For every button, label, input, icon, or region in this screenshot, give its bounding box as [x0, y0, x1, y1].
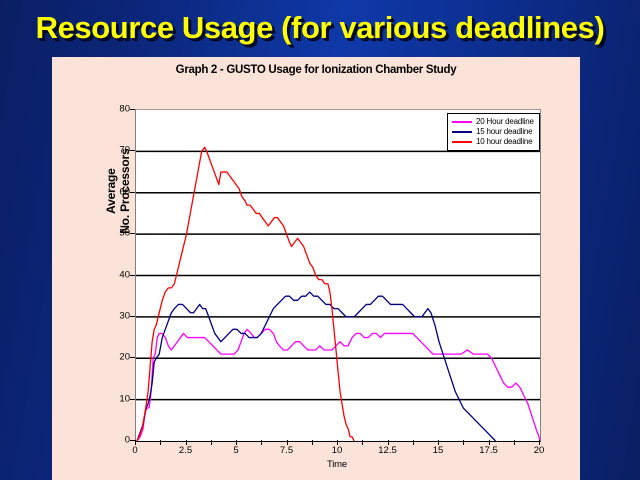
y-axis-tick-labels: 01020304050607080 — [100, 57, 130, 480]
legend-item-0: 20 Hour deadline — [452, 117, 534, 127]
legend-swatch-icon — [452, 141, 472, 143]
y-tick-label: 50 — [119, 228, 130, 239]
legend-swatch-icon — [452, 131, 472, 133]
legend-item-1: 15 hour deadline — [452, 127, 534, 137]
x-tick-mark — [362, 440, 363, 445]
legend-label: 15 hour deadline — [476, 127, 532, 137]
legend-label: 10 hour deadline — [476, 137, 532, 147]
y-tick-label: 10 — [119, 393, 130, 404]
legend-item-2: 10 hour deadline — [452, 137, 534, 147]
x-tick-mark — [514, 440, 515, 445]
x-tick-mark — [489, 440, 490, 445]
legend-label: 20 Hour deadline — [476, 117, 534, 127]
x-tick-label: 10 — [332, 445, 343, 456]
x-tick-label: 15 — [433, 445, 444, 456]
x-tick-label: 12.5 — [378, 445, 397, 456]
x-tick-label: 7.5 — [280, 445, 293, 456]
series-line-1 — [137, 292, 496, 441]
x-axis-title: Time — [135, 459, 539, 470]
x-tick-mark — [211, 440, 212, 445]
y-tick-label: 70 — [119, 145, 130, 156]
series-line-2 — [137, 147, 354, 441]
x-tick-mark — [160, 440, 161, 445]
x-tick-mark — [236, 440, 237, 445]
x-tick-mark — [388, 440, 389, 445]
x-tick-label: 2.5 — [179, 445, 192, 456]
y-tick-label: 30 — [119, 310, 130, 321]
plot-area — [135, 109, 541, 442]
x-tick-mark — [539, 440, 540, 445]
x-tick-mark — [413, 440, 414, 445]
chart-title: Graph 2 - GUSTO Usage for Ionization Cha… — [52, 64, 580, 76]
y-tick-label: 60 — [119, 186, 130, 197]
page-title: Resource Usage (for various deadlines) — [0, 10, 640, 46]
x-tick-label: 17.5 — [479, 445, 498, 456]
chart-panel: Graph 2 - GUSTO Usage for Ionization Cha… — [52, 57, 580, 480]
x-tick-label: 5 — [233, 445, 238, 456]
x-tick-label: 0 — [132, 445, 137, 456]
x-tick-mark — [438, 440, 439, 445]
x-tick-mark — [135, 440, 136, 445]
x-tick-mark — [261, 440, 262, 445]
x-tick-mark — [186, 440, 187, 445]
x-tick-label: 20 — [534, 445, 545, 456]
y-tick-label: 80 — [119, 104, 130, 115]
y-tick-label: 20 — [119, 352, 130, 363]
x-tick-mark — [337, 440, 338, 445]
x-tick-mark — [312, 440, 313, 445]
chart-legend: 20 Hour deadline15 hour deadline10 hour … — [447, 113, 540, 151]
gridlines — [136, 151, 540, 399]
x-tick-mark — [463, 440, 464, 445]
y-tick-label: 40 — [119, 269, 130, 280]
legend-swatch-icon — [452, 121, 472, 123]
chart-canvas — [136, 110, 540, 441]
x-tick-mark — [287, 440, 288, 445]
data-series-group — [137, 147, 540, 441]
